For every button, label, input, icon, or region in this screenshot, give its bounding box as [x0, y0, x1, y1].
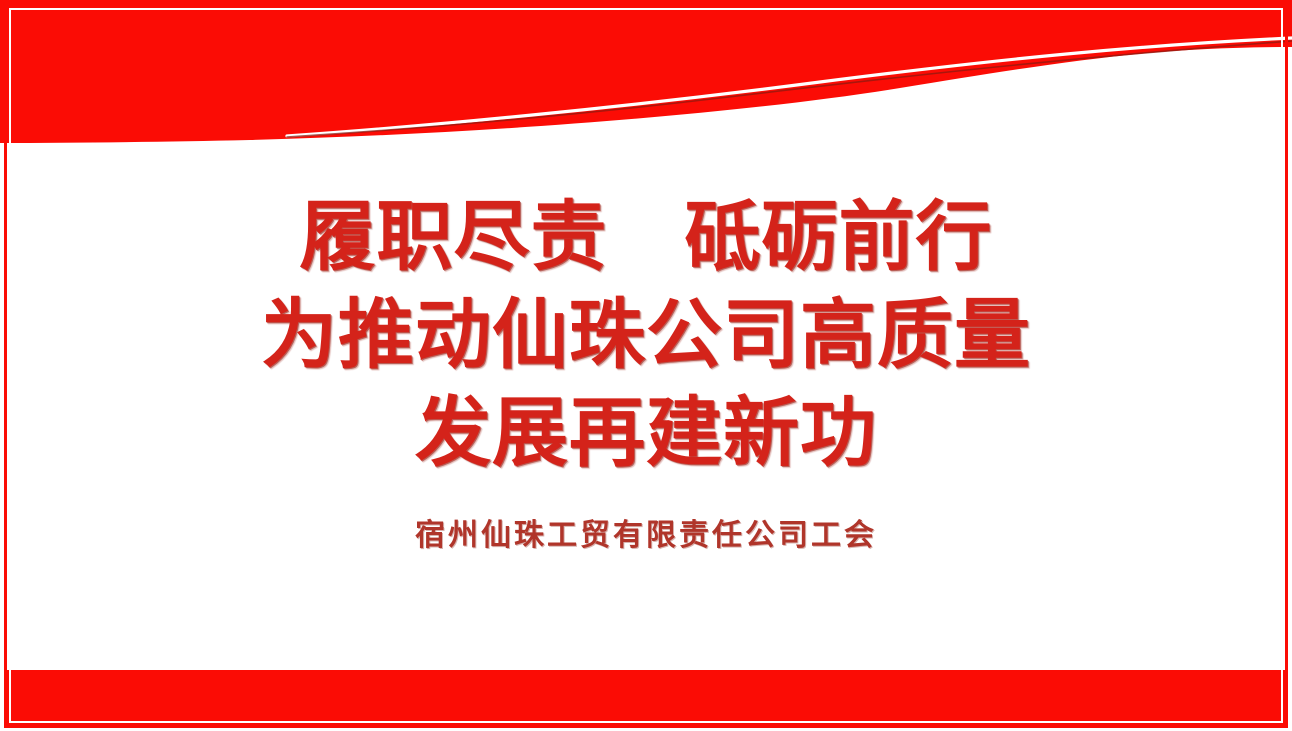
top-band-svg	[0, 0, 1292, 200]
headline-block: 履职尽责 砥砺前行 为推动仙珠公司高质量 发展再建新功	[0, 188, 1292, 482]
poster-canvas: 履职尽责 砥砺前行 为推动仙珠公司高质量 发展再建新功 宿州仙珠工贸有限责任公司…	[0, 0, 1292, 731]
headline-line-2: 为推动仙珠公司高质量	[0, 286, 1292, 384]
organization-signature: 宿州仙珠工贸有限责任公司工会	[0, 516, 1292, 556]
headline-line-3: 发展再建新功	[0, 384, 1292, 482]
top-red-wave-band	[0, 0, 1292, 200]
headline-line-1: 履职尽责 砥砺前行	[0, 188, 1292, 286]
top-band-red-shape	[0, 0, 1292, 143]
bottom-red-band	[6, 670, 1286, 726]
